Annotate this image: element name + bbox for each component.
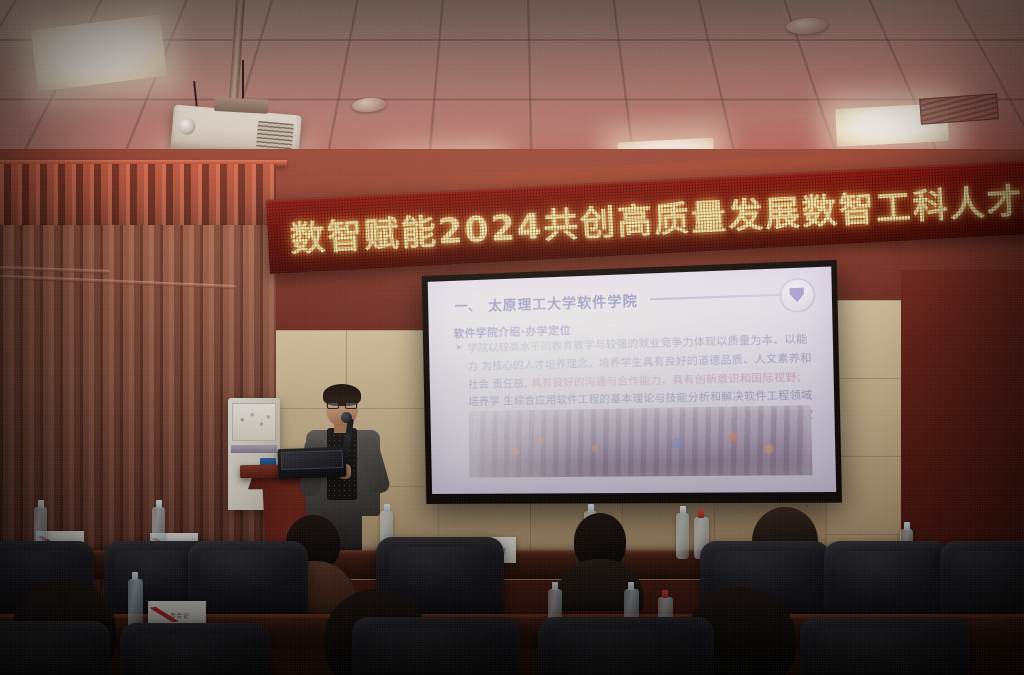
slide-section-number: 一、 (455, 295, 482, 315)
projector-lens-icon (178, 117, 196, 135)
ac-control-strip (231, 445, 277, 453)
university-logo-icon (779, 277, 815, 312)
podium-laptop[interactable] (277, 447, 346, 479)
audience-chair (188, 541, 308, 619)
audience-chair (824, 541, 950, 625)
audience-chair-front (352, 617, 520, 675)
projector-bracket (214, 97, 269, 114)
slide-body-after-hl1: 培养学 (468, 397, 500, 409)
slide-title: 太原理工大学软件学院 (488, 289, 638, 315)
curtain-valance (0, 164, 276, 225)
conference-hall-photo: 数智赋能2024共创高质量发展数智工科人才培养发展论坛 一、 太原理工大学软件学… (0, 0, 1024, 675)
ac-decor-panel (232, 403, 276, 441)
audience-chair-front (800, 617, 970, 675)
projection-screen: 一、 太原理工大学软件学院 软件学院介绍·办学定位 ➤ 学院以较高水平的教育教学… (428, 266, 837, 493)
slide-title-row: 一、 太原理工大学软件学院 (455, 283, 807, 316)
audience-chair-front (120, 623, 270, 675)
slide-graduation-photo (469, 406, 813, 478)
water-bottle (676, 513, 689, 559)
logo-shield-mark (790, 287, 805, 302)
audience-chair-front (0, 621, 110, 675)
laptop-screen (281, 450, 344, 470)
slide-highlight-1: 具有良好的沟通与合作能力、具有创新意识和国际视野; (531, 372, 801, 389)
projector-vent-icon (256, 121, 294, 150)
audience-chair (940, 541, 1024, 621)
audience-chair-front (538, 617, 714, 675)
air-vent-icon (919, 93, 999, 124)
eyeglass-lens-right (345, 402, 357, 409)
namecard-text: 参会证 (170, 611, 189, 620)
projection-screen-frame: 一、 太原理工大学软件学院 软件学院介绍·办学定位 ➤ 学院以较高水平的教育教学… (422, 260, 842, 504)
eyeglass-lens-left (327, 402, 339, 409)
slide-body-line-3: 责任感, (492, 378, 527, 390)
eyeglasses-icon (327, 402, 357, 409)
microphone-head-icon (341, 412, 352, 423)
bullet-arrow-icon: ➤ (455, 342, 463, 353)
